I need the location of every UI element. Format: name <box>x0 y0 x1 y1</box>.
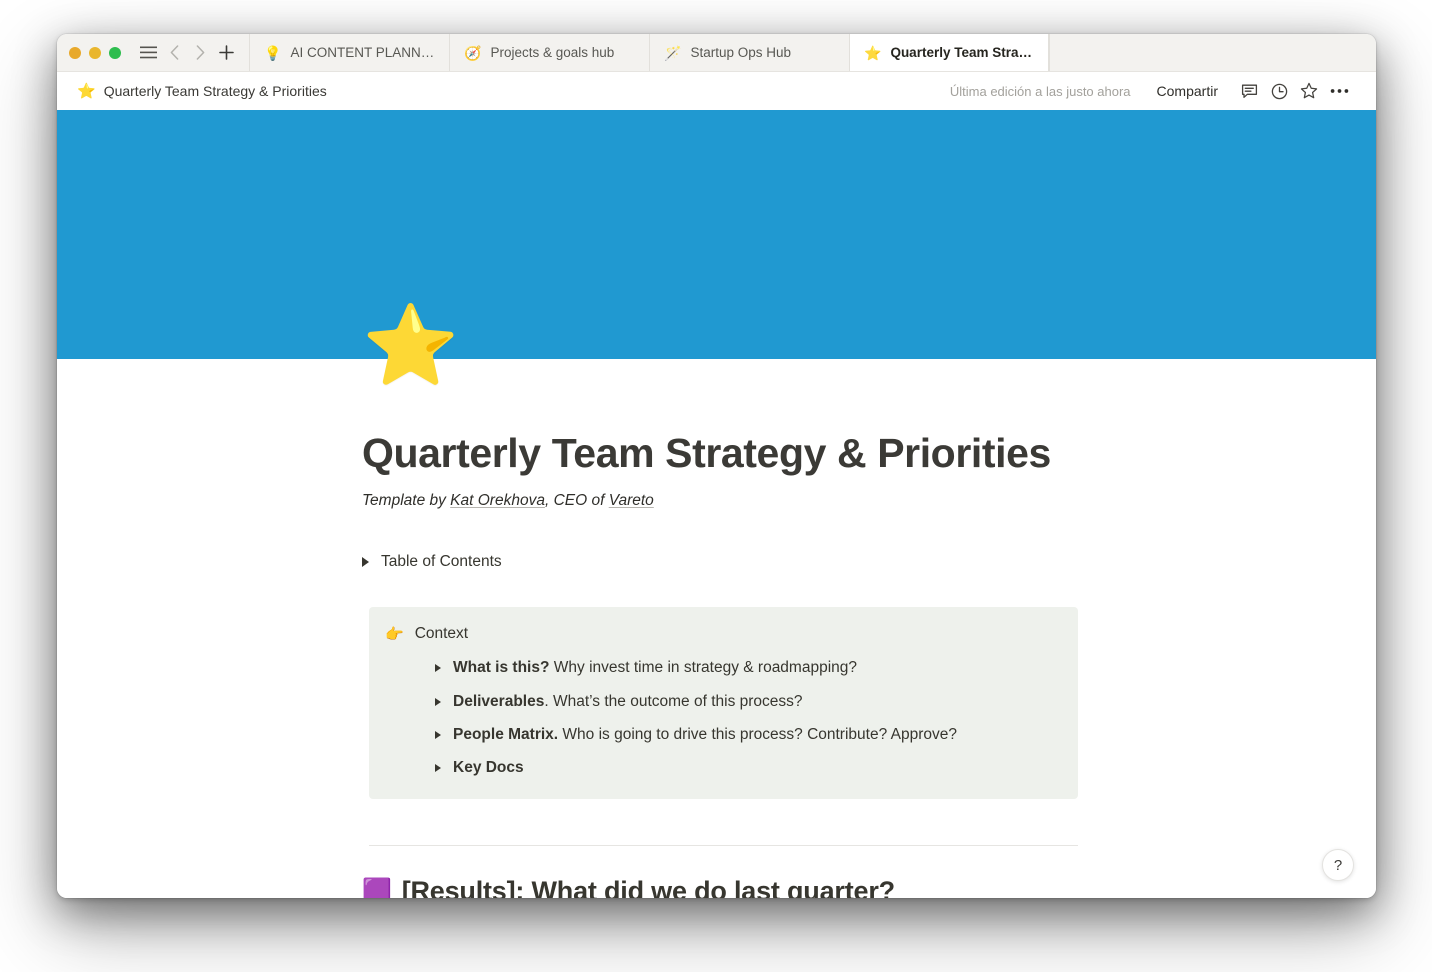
list-item-text: Deliverables. What’s the outcome of this… <box>453 690 803 713</box>
chevron-right-icon[interactable] <box>435 764 441 772</box>
list-item-bold: Deliverables <box>453 693 544 710</box>
list-item-text: What is this? Why invest time in strateg… <box>453 656 857 679</box>
app-header: ⭐ Quarterly Team Strategy & Priorities Ú… <box>57 72 1376 110</box>
list-item[interactable]: Deliverables. What’s the outcome of this… <box>435 690 1062 713</box>
hamburger-icon[interactable] <box>135 40 161 66</box>
list-item[interactable]: People Matrix. Who is going to drive thi… <box>435 723 1062 746</box>
results-section-heading[interactable]: 🟪 [Results]: What did we do last quarter… <box>362 876 1376 898</box>
chevron-right-icon[interactable] <box>435 698 441 706</box>
table-of-contents-label: Table of Contents <box>381 553 502 571</box>
tab-strip: 💡 AI CONTENT PLANNI... 🧭 Projects & goal… <box>57 34 1376 72</box>
page-title[interactable]: Quarterly Team Strategy & Priorities <box>362 431 1376 477</box>
last-edited-label: Última edición a las justo ahora <box>950 84 1131 99</box>
tab-startup-ops-hub[interactable]: 🪄 Startup Ops Hub <box>649 34 849 71</box>
window-controls <box>57 34 249 71</box>
list-item-rest: Who is going to drive this process? Cont… <box>558 726 957 743</box>
byline-prefix: Template by <box>362 492 450 509</box>
company-link[interactable]: Vareto <box>609 492 654 509</box>
tab-label: Quarterly Team Strat... <box>890 45 1034 60</box>
section-heading-text: [Results]: What did we do last quarter? <box>402 876 895 898</box>
list-item-text: People Matrix. Who is going to drive thi… <box>453 723 957 746</box>
help-button[interactable]: ? <box>1322 849 1354 881</box>
byline-middle: , CEO of <box>545 492 609 509</box>
callout-toggle-list: What is this? Why invest time in strateg… <box>385 656 1062 779</box>
chevron-left-icon[interactable] <box>161 40 187 66</box>
screen-root: 💡 AI CONTENT PLANNI... 🧭 Projects & goal… <box>0 0 1432 972</box>
star-icon: ⭐ <box>77 84 96 99</box>
list-item[interactable]: Key Docs <box>435 756 1062 779</box>
compass-icon: 🧭 <box>464 46 481 60</box>
chevron-right-icon[interactable] <box>187 40 213 66</box>
tab-projects-goals-hub[interactable]: 🧭 Projects & goals hub <box>449 34 649 71</box>
list-item-bold: People Matrix. <box>453 726 558 743</box>
magic-wand-icon: 🪄 <box>664 46 681 60</box>
new-tab-button[interactable] <box>213 40 239 66</box>
more-options-icon[interactable] <box>1324 77 1354 105</box>
tab-quarterly-team-strategy[interactable]: ⭐ Quarterly Team Strat... <box>849 34 1049 71</box>
section-divider <box>369 845 1078 846</box>
star-favorite-icon[interactable] <box>1294 77 1324 105</box>
lightbulb-icon: 💡 <box>264 46 281 60</box>
list-item-text: Key Docs <box>453 756 524 779</box>
document-content: Quarterly Team Strategy & Priorities Tem… <box>57 431 1376 898</box>
star-icon: ⭐ <box>864 46 881 60</box>
header-actions: Última edición a las justo ahora Compart… <box>950 77 1354 105</box>
callout-title: Context <box>415 625 468 643</box>
callout-header: 👉 Context <box>385 625 1062 645</box>
chevron-right-icon[interactable] <box>435 731 441 739</box>
tab-ai-content-planning[interactable]: 💡 AI CONTENT PLANNI... <box>249 34 449 71</box>
list-item-rest: Why invest time in strategy & roadmappin… <box>549 659 857 676</box>
author-link[interactable]: Kat Orekhova <box>450 492 545 509</box>
chevron-right-icon[interactable] <box>362 557 369 567</box>
breadcrumb[interactable]: ⭐ Quarterly Team Strategy & Priorities <box>77 83 327 99</box>
document-page: ⭐ Quarterly Team Strategy & Priorities T… <box>57 110 1376 898</box>
comment-icon[interactable] <box>1234 77 1264 105</box>
page-icon-star-emoji[interactable]: ⭐ <box>362 306 459 384</box>
clock-history-icon[interactable] <box>1264 77 1294 105</box>
byline: Template by Kat Orekhova, CEO of Vareto <box>362 492 1376 510</box>
page-cover-image[interactable] <box>57 110 1376 359</box>
list-item-bold: What is this? <box>453 659 549 676</box>
maximize-window-button[interactable] <box>109 47 121 59</box>
purple-square-icon: 🟪 <box>362 880 392 898</box>
table-of-contents-toggle[interactable]: Table of Contents <box>362 553 1376 571</box>
share-button[interactable]: Compartir <box>1149 79 1226 103</box>
chevron-right-icon[interactable] <box>435 664 441 672</box>
list-item-rest: . What’s the outcome of this process? <box>544 693 802 710</box>
tab-label: Projects & goals hub <box>490 45 614 60</box>
list-item[interactable]: What is this? Why invest time in strateg… <box>435 656 1062 679</box>
pointing-hand-icon: 👉 <box>385 625 404 645</box>
tab-strip-empty-area <box>1049 34 1376 71</box>
context-callout: 👉 Context What is this? Why invest time … <box>369 607 1078 800</box>
tab-label: AI CONTENT PLANNI... <box>290 45 435 60</box>
breadcrumb-title: Quarterly Team Strategy & Priorities <box>104 83 327 99</box>
tab-list: 💡 AI CONTENT PLANNI... 🧭 Projects & goal… <box>249 34 1376 71</box>
tab-label: Startup Ops Hub <box>690 45 791 60</box>
list-item-bold: Key Docs <box>453 759 524 776</box>
browser-window: 💡 AI CONTENT PLANNI... 🧭 Projects & goal… <box>57 34 1376 898</box>
close-window-button[interactable] <box>69 47 81 59</box>
minimize-window-button[interactable] <box>89 47 101 59</box>
